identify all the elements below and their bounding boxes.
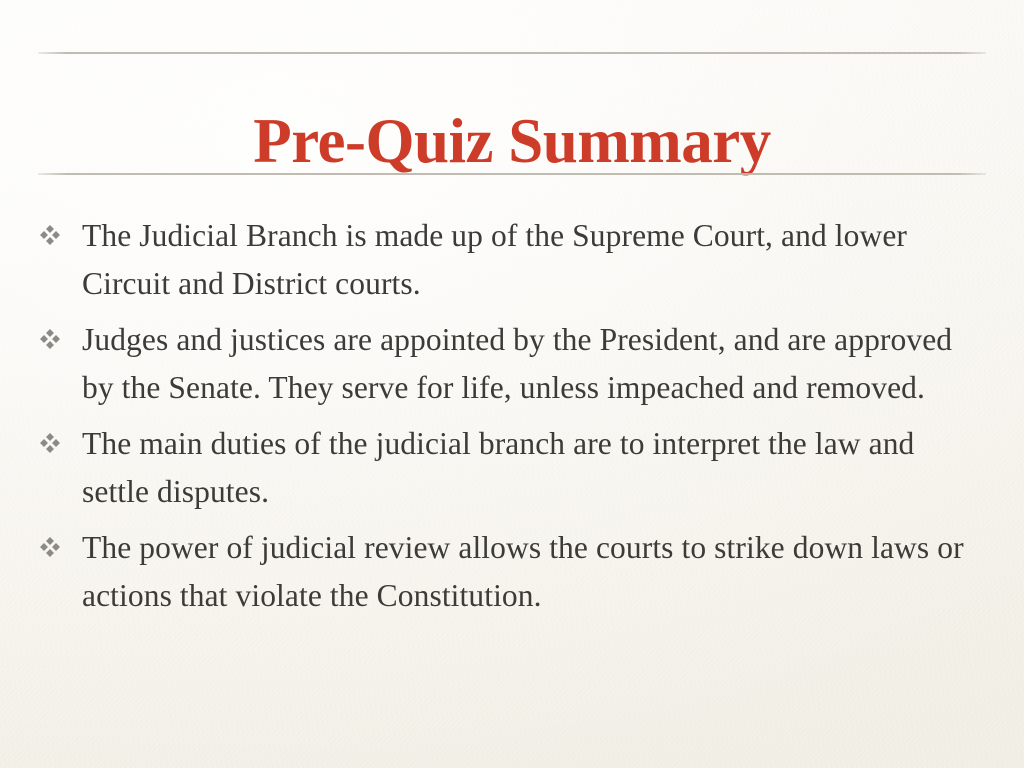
bullet-text: The Judicial Branch is made up of the Su…: [82, 212, 972, 308]
slide-canvas: Pre-Quiz Summary The Judicial Branch is …: [0, 0, 1024, 768]
bullet-item: The main duties of the judicial branch a…: [40, 420, 984, 516]
title-rule-bottom: [38, 173, 986, 175]
four-diamond-bullet-icon: [40, 316, 82, 349]
bullet-item: The Judicial Branch is made up of the Su…: [40, 212, 984, 308]
bullet-text: Judges and justices are appointed by the…: [82, 316, 972, 412]
title-rule-top: [38, 52, 986, 54]
bullet-list: The Judicial Branch is made up of the Su…: [40, 212, 984, 628]
four-diamond-bullet-icon: [40, 212, 82, 245]
bullet-text: The power of judicial review allows the …: [82, 524, 972, 620]
bullet-text: The main duties of the judicial branch a…: [82, 420, 972, 516]
four-diamond-bullet-icon: [40, 420, 82, 453]
four-diamond-bullet-icon: [40, 524, 82, 557]
slide-title: Pre-Quiz Summary: [38, 110, 986, 173]
bullet-item: The power of judicial review allows the …: [40, 524, 984, 620]
bullet-item: Judges and justices are appointed by the…: [40, 316, 984, 412]
